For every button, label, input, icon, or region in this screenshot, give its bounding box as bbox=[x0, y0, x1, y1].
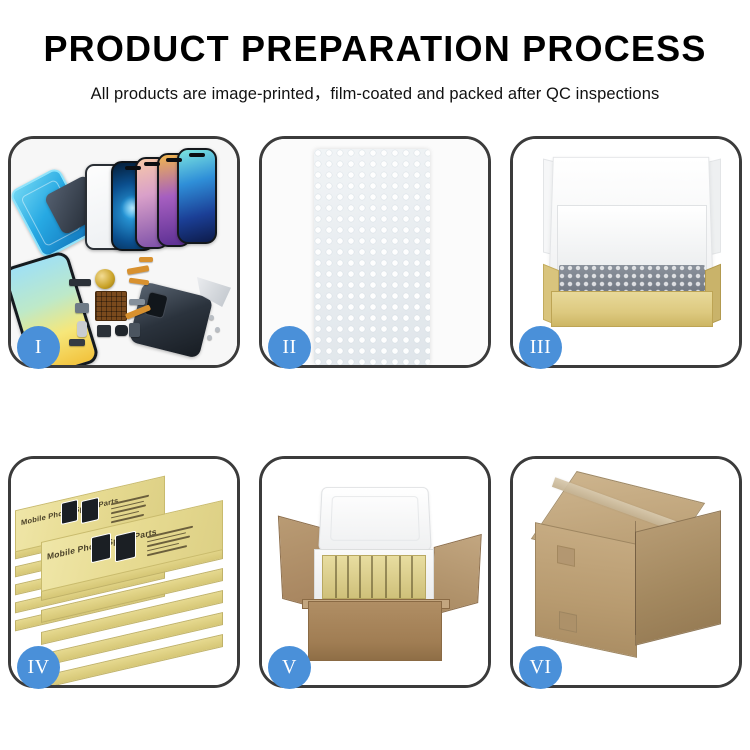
page-subtitle: All products are image-printed，film-coat… bbox=[0, 80, 750, 104]
process-steps-grid: I II bbox=[8, 136, 742, 688]
box-product-photo bbox=[91, 533, 111, 564]
notch-icon bbox=[189, 153, 205, 157]
small-part bbox=[97, 325, 111, 337]
step-badge-2: II bbox=[268, 326, 311, 369]
step-badge-3: III bbox=[519, 326, 562, 369]
notch-icon bbox=[144, 162, 160, 166]
step-badge-6: VI bbox=[519, 646, 562, 689]
screw-part bbox=[209, 315, 214, 320]
page-title: PRODUCT PREPARATION PROCESS bbox=[0, 30, 750, 68]
phone-screen-teal bbox=[177, 148, 217, 244]
small-part bbox=[115, 325, 128, 336]
small-part bbox=[69, 279, 91, 286]
small-part bbox=[129, 323, 140, 337]
carton-edge-seam bbox=[635, 521, 636, 635]
page-header: PRODUCT PREPARATION PROCESS All products… bbox=[0, 0, 750, 104]
small-part bbox=[77, 321, 87, 337]
step-3-inner-box: III bbox=[510, 136, 742, 368]
packed-yellow-boxes bbox=[322, 555, 426, 599]
small-part bbox=[129, 299, 145, 305]
step-badge-4: IV bbox=[17, 646, 60, 689]
carton-handle-notch bbox=[559, 611, 577, 633]
carton-handle-notch bbox=[557, 545, 575, 567]
carton-front-panel bbox=[308, 601, 442, 661]
step-badge-1: I bbox=[17, 326, 60, 369]
box-tray-front bbox=[551, 291, 713, 327]
step-1-products: I bbox=[8, 136, 240, 368]
flex-cable-part bbox=[129, 278, 150, 286]
box-product-photo bbox=[115, 531, 136, 563]
foam-padding bbox=[557, 205, 707, 271]
small-part bbox=[139, 257, 153, 262]
screw-part bbox=[215, 327, 220, 332]
carton-front-face bbox=[535, 522, 637, 658]
step-5-carton-packing: V bbox=[259, 456, 491, 688]
carton-side-face bbox=[635, 510, 721, 645]
chip-array-part bbox=[95, 291, 127, 321]
flex-cable-part bbox=[127, 265, 150, 275]
small-part bbox=[69, 339, 85, 346]
notch-icon bbox=[166, 158, 182, 162]
step-6-sealed-carton: VI bbox=[510, 456, 742, 688]
foam-box-lid bbox=[318, 487, 431, 551]
copper-coil-part bbox=[95, 269, 115, 289]
step-badge-5: V bbox=[268, 646, 311, 689]
screw-part bbox=[207, 335, 212, 340]
notch-icon bbox=[125, 166, 141, 170]
bubble-wrap-sleeve bbox=[314, 149, 430, 365]
small-part bbox=[75, 303, 89, 313]
step-2-bubble-wrap: II bbox=[259, 136, 491, 368]
step-4-stacked-boxes: Mobile Phone Spare Parts Mobile Phone Sp… bbox=[8, 456, 240, 688]
